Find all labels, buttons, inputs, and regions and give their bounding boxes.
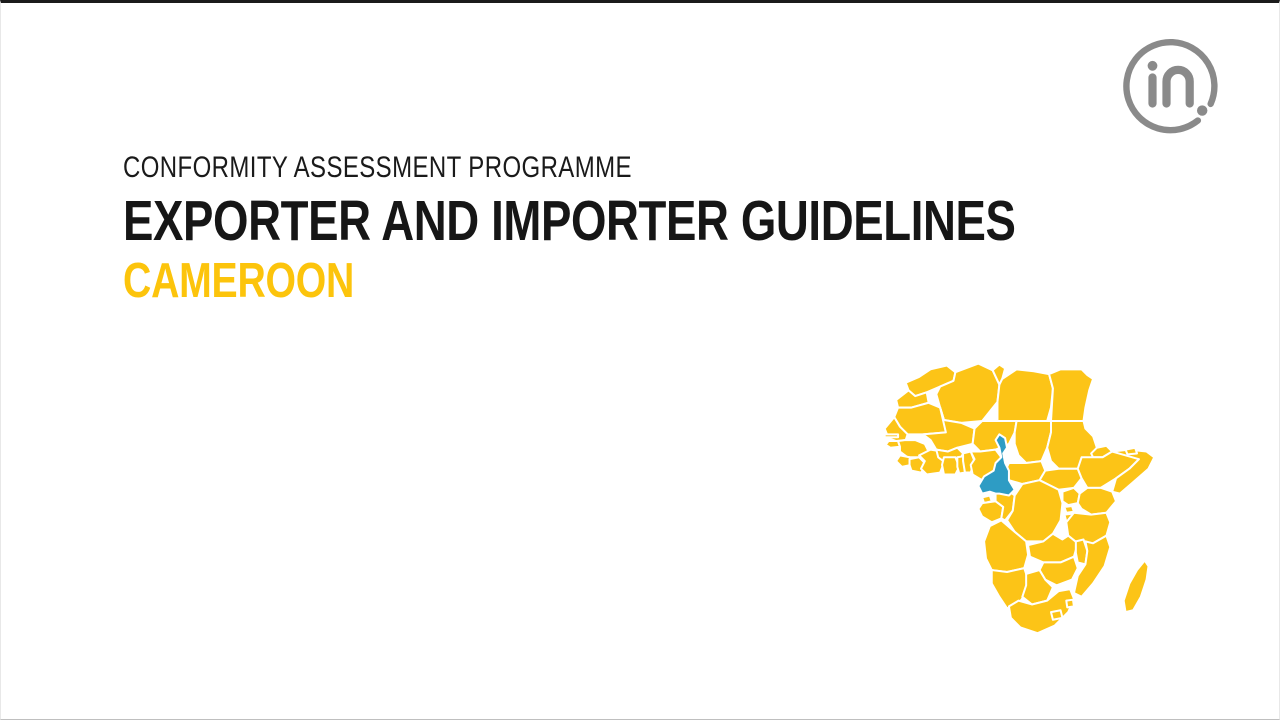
map-country-madagascar xyxy=(1124,561,1149,613)
map-country-rwanda xyxy=(1064,506,1074,513)
logo-trailing-dot xyxy=(1197,105,1207,115)
intertek-logo[interactable] xyxy=(1114,31,1226,139)
logo-letter-i-dot xyxy=(1148,61,1158,71)
map-country-libya xyxy=(997,369,1052,421)
map-country-niger xyxy=(973,421,1017,452)
map-country-djibouti xyxy=(1126,448,1137,455)
map-country-gambia xyxy=(885,434,898,437)
map-country-egypt xyxy=(1049,369,1093,421)
logo-letter-n xyxy=(1167,70,1190,104)
slide-canvas: CONFORMITY ASSESSMENT PROGRAMME EXPORTER… xyxy=(0,0,1280,720)
map-country-kenya xyxy=(1078,488,1116,515)
africa-map xyxy=(856,333,1181,658)
programme-kicker: CONFORMITY ASSESSMENT PROGRAMME xyxy=(123,151,923,185)
title-block: CONFORMITY ASSESSMENT PROGRAMME EXPORTER… xyxy=(123,151,1123,307)
map-country-eswatini xyxy=(1066,600,1074,608)
map-country-chad xyxy=(1015,421,1051,463)
country-title: CAMEROON xyxy=(123,255,923,307)
map-country-lesotho xyxy=(1051,610,1062,620)
page-title: EXPORTER AND IMPORTER GUIDELINES xyxy=(123,191,923,251)
